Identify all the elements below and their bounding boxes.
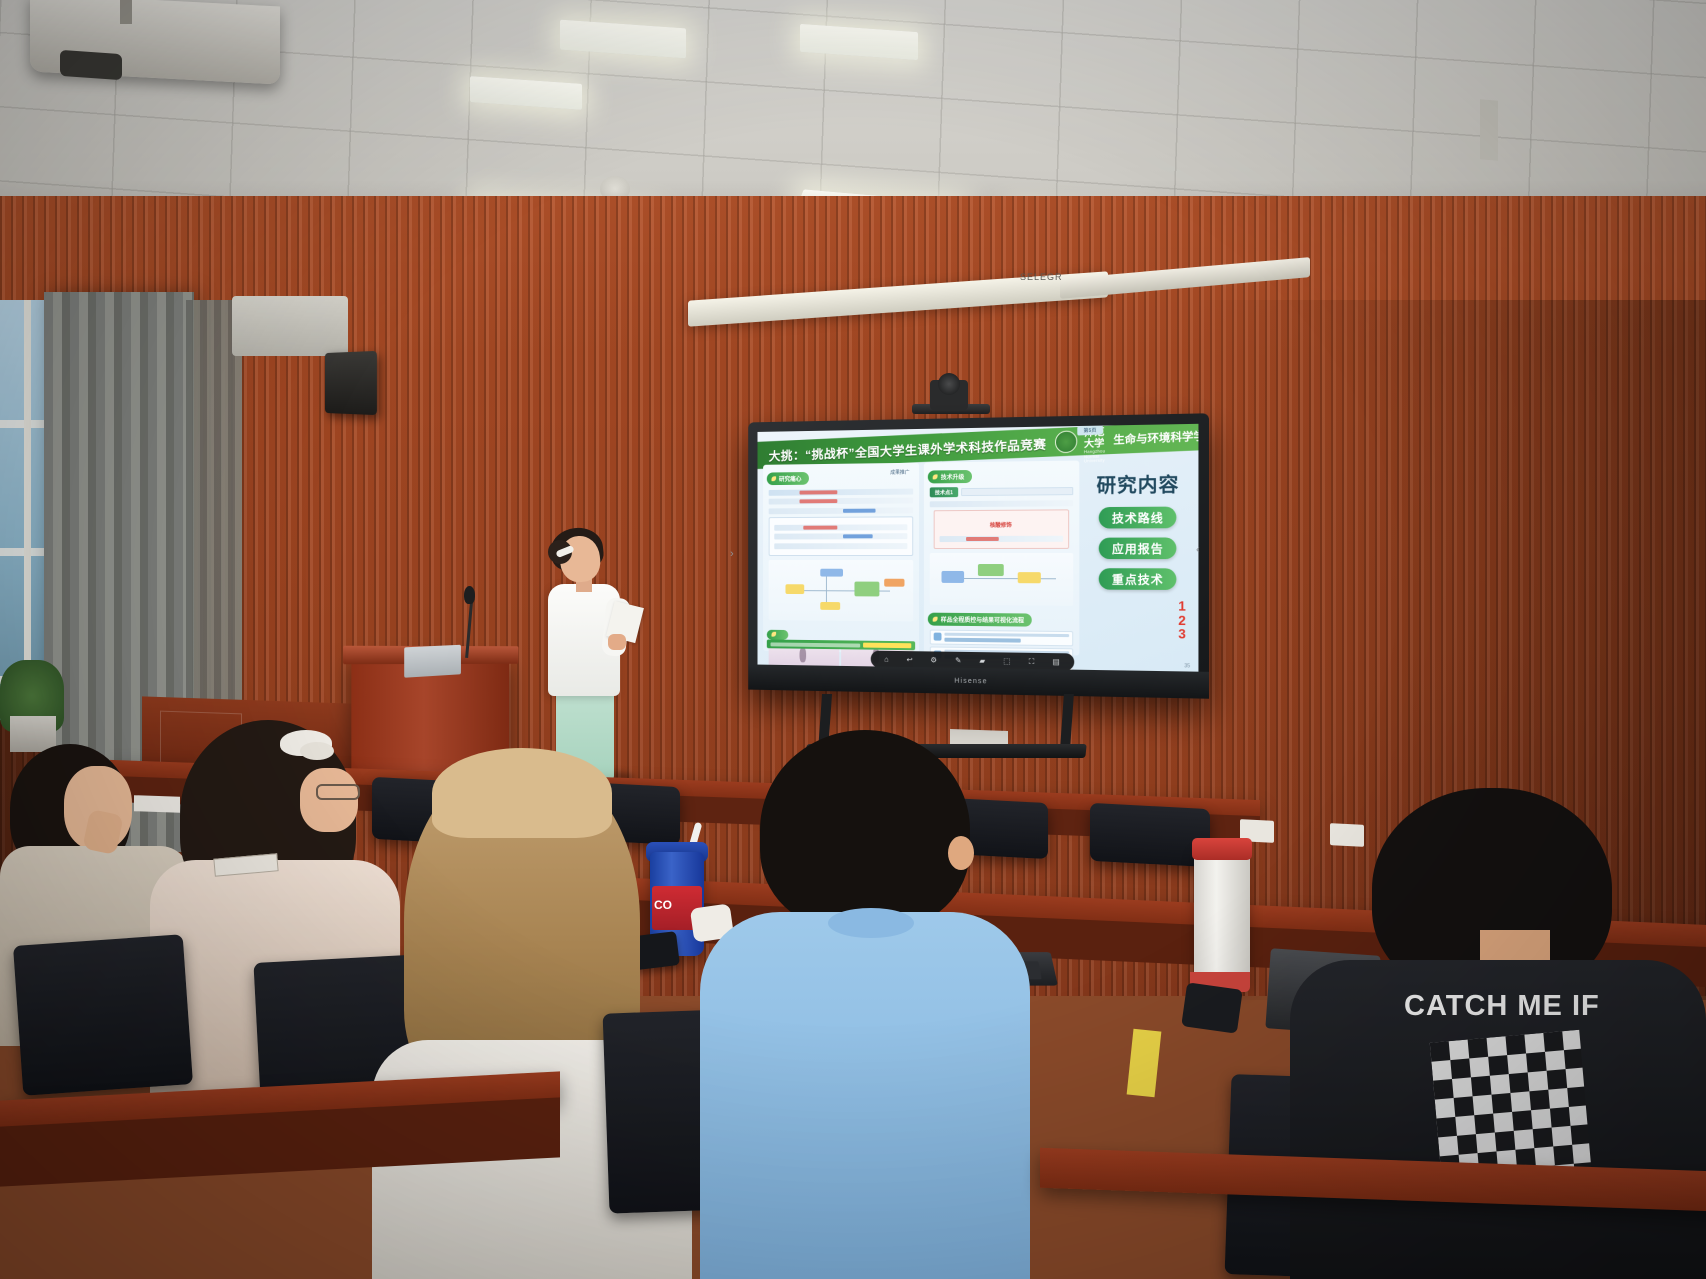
callout-box bbox=[769, 516, 914, 556]
leaf-icon bbox=[933, 617, 938, 622]
slide-page-number: 35 bbox=[1184, 663, 1190, 669]
audience-blue-shirt-body bbox=[700, 912, 1030, 1279]
display-brand-label: Hisense bbox=[954, 677, 987, 685]
curtain bbox=[186, 300, 242, 760]
home-icon[interactable]: ⌂ bbox=[884, 655, 888, 662]
thermos-cup bbox=[1194, 846, 1250, 986]
leaf-icon bbox=[771, 632, 776, 637]
text-line bbox=[930, 500, 1073, 507]
diagram-node bbox=[820, 568, 843, 576]
presentation-slide: 大挑：“挑战杯”全国大学生课外学术科技作品竞赛 杭州师范大学 Hangzhou … bbox=[758, 424, 1199, 672]
bullet-text bbox=[945, 632, 1069, 642]
leaf-icon bbox=[771, 476, 776, 481]
competition-title: “挑战杯”全国大学生课外学术科技作品竞赛 bbox=[805, 437, 1046, 461]
pill-key-technology[interactable]: 重点技术 bbox=[1099, 568, 1177, 590]
window-mullion bbox=[24, 300, 31, 720]
pill-application-report[interactable]: 应用报告 bbox=[1099, 537, 1177, 559]
diagram-node bbox=[978, 564, 1004, 576]
slide-column-right: 研究内容 技术路线 应用报告 重点技术 1 2 3 bbox=[1084, 459, 1192, 657]
tshirt-text: CATCH ME IF bbox=[1404, 990, 1600, 1023]
audience-blue-shirt-collar bbox=[828, 908, 914, 938]
bullet-card bbox=[930, 629, 1073, 646]
text-line bbox=[769, 497, 914, 504]
section-pill-tech-upgrade: 技术升级 bbox=[928, 470, 972, 483]
text-line bbox=[940, 535, 1063, 541]
diagram-node bbox=[884, 578, 905, 586]
competition-tag: 大挑：“挑战杯”全国大学生课外学术科技作品竞赛 bbox=[769, 433, 1047, 464]
glasses-icon bbox=[316, 784, 360, 800]
table-outlet bbox=[1330, 823, 1364, 847]
text-line bbox=[769, 507, 914, 514]
diagram-node bbox=[786, 584, 805, 594]
slide-column-middle: 技术升级 技术点1 核酸修饰 bbox=[924, 461, 1079, 656]
wall-speaker bbox=[325, 351, 377, 415]
section-label: 研究痛心 bbox=[779, 474, 802, 483]
slide-page-tab: 第5页 bbox=[1078, 425, 1103, 435]
microphone-icon bbox=[464, 586, 475, 604]
slide-column-left: 研究痛心 成果推广 bbox=[763, 463, 919, 654]
ceiling-brand-label: SELEGR bbox=[1020, 272, 1063, 282]
competition-tag-text: 大挑： bbox=[769, 448, 806, 463]
drink-cup-text: CO bbox=[654, 898, 672, 912]
section-label: 样品全程质控与结果可视化流程 bbox=[941, 615, 1024, 625]
lectern-laptop bbox=[404, 645, 461, 678]
plant-pot bbox=[10, 716, 56, 752]
workflow-diagram bbox=[930, 553, 1073, 606]
air-conditioner bbox=[232, 296, 348, 356]
university-seal-icon bbox=[1054, 430, 1076, 453]
presenter-hand bbox=[608, 634, 626, 650]
slide-number-1: 1 bbox=[1178, 600, 1186, 614]
projector-mount bbox=[120, 0, 132, 24]
chair[interactable] bbox=[13, 934, 193, 1095]
shapes-icon[interactable]: ⬚ bbox=[1003, 657, 1010, 665]
college-name: 生命与环境科学学院 bbox=[1113, 427, 1198, 448]
camera-lens-icon bbox=[938, 373, 960, 395]
column-corner-note: 成果推广 bbox=[890, 469, 909, 476]
display-side-button-right[interactable]: ‹ bbox=[1196, 544, 1200, 556]
audience-with-bow-face bbox=[300, 768, 358, 832]
interactive-display[interactable]: 大挑：“挑战杯”全国大学生课外学术科技作品竞赛 杭州师范大学 Hangzhou … bbox=[748, 413, 1209, 698]
lecture-room-photo: SELEGR 大挑：“挑战杯”全国大学生课外学术科技作品竞赛 杭州师范大学 Ha… bbox=[0, 0, 1706, 1279]
pill-tech-route[interactable]: 技术路线 bbox=[1099, 507, 1177, 529]
audience-blue-shirt-hair bbox=[760, 730, 970, 930]
footer-highlight bbox=[863, 643, 912, 649]
diagram-node bbox=[855, 582, 880, 597]
section-label: 技术升级 bbox=[941, 472, 965, 481]
slide-number-3: 3 bbox=[1178, 627, 1186, 641]
projector-lens bbox=[60, 50, 122, 80]
undo-icon[interactable]: ↩ bbox=[906, 656, 912, 664]
capture-icon[interactable]: ⛶ bbox=[1029, 658, 1034, 666]
section-pill-validation bbox=[767, 629, 788, 639]
hair-bow-icon bbox=[300, 742, 334, 760]
eraser-icon[interactable]: ▰ bbox=[979, 657, 985, 665]
sticky-note bbox=[1127, 1029, 1162, 1098]
tech-point-row: 技术点1 bbox=[930, 486, 1073, 497]
research-content-title: 研究内容 bbox=[1088, 469, 1188, 498]
footer-bar bbox=[771, 642, 861, 647]
pathway-diagram bbox=[769, 560, 914, 622]
diagram-node bbox=[820, 602, 840, 610]
gear-icon[interactable]: ⚙ bbox=[930, 656, 937, 664]
table-name-card bbox=[134, 795, 180, 813]
diagram-node bbox=[1018, 572, 1041, 584]
highlight-label: 核酸修饰 bbox=[990, 523, 1012, 529]
section-pill-qc: 样品全程质控与结果可视化流程 bbox=[928, 613, 1032, 627]
audience-long-hair-top bbox=[432, 748, 612, 838]
slide-body: 研究痛心 成果推广 bbox=[763, 459, 1192, 657]
tech-badge: 技术点1 bbox=[930, 487, 958, 497]
apps-icon[interactable]: ▤ bbox=[1053, 658, 1060, 666]
section-pill-pain-points: 研究痛心 bbox=[767, 472, 809, 485]
display-screen[interactable]: 大挑：“挑战杯”全国大学生课外学术科技作品竞赛 杭州师范大学 Hangzhou … bbox=[758, 424, 1199, 672]
slide-numbers: 1 2 3 bbox=[1178, 600, 1186, 641]
tech-point-text bbox=[961, 487, 1073, 496]
highlight-box: 核酸修饰 bbox=[934, 509, 1069, 549]
pen-icon[interactable]: ✎ bbox=[955, 657, 961, 665]
slide-number-2: 2 bbox=[1178, 613, 1186, 627]
audience-blue-shirt-ear bbox=[948, 836, 974, 870]
section-label bbox=[779, 631, 781, 637]
text-line bbox=[769, 488, 914, 495]
smartphone[interactable] bbox=[1181, 982, 1243, 1033]
leaf-icon bbox=[933, 474, 938, 479]
text-line bbox=[774, 524, 907, 530]
diagram-node bbox=[941, 571, 964, 584]
display-side-button-left[interactable]: › bbox=[730, 548, 734, 560]
text-line bbox=[774, 533, 907, 539]
thermos-cup-lid bbox=[1192, 838, 1252, 860]
text-line bbox=[774, 543, 907, 549]
ceiling-vent bbox=[1480, 99, 1498, 161]
list-icon bbox=[934, 633, 942, 641]
